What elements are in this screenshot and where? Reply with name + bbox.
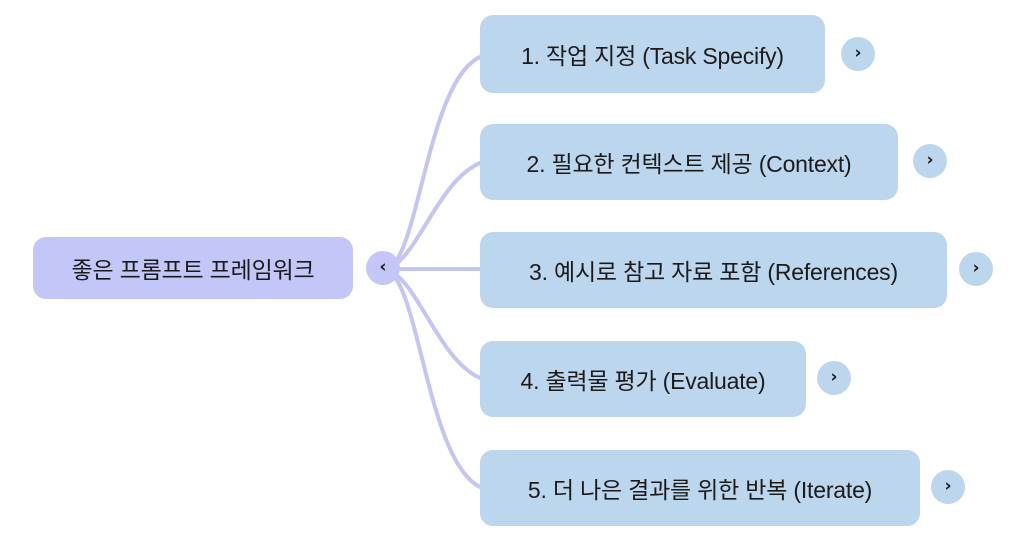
child-node-2-expand-toggle[interactable]: ›: [913, 144, 947, 178]
chevron-right-icon: ›: [972, 260, 979, 277]
child-node-1-expand-toggle[interactable]: ›: [841, 37, 875, 71]
edge-root-to-child-5: [392, 274, 480, 487]
child-node-4-expand-toggle[interactable]: ›: [817, 361, 851, 395]
child-node-3[interactable]: 3. 예시로 참고 자료 포함 (References): [480, 232, 947, 308]
child-node-4-label: 4. 출력물 평가 (Evaluate): [480, 362, 806, 396]
child-node-5[interactable]: 5. 더 나은 결과를 위한 반복 (Iterate): [480, 450, 920, 526]
chevron-right-icon: ›: [926, 152, 933, 169]
root-node-label: 좋은 프롬프트 프레임워크: [33, 251, 353, 285]
connector-edges: [392, 57, 480, 487]
child-node-3-label: 3. 예시로 참고 자료 포함 (References): [480, 253, 947, 287]
child-node-5-expand-toggle[interactable]: ›: [931, 470, 965, 504]
child-node-3-expand-toggle[interactable]: ›: [959, 252, 993, 286]
edge-root-to-child-1: [392, 57, 480, 266]
child-node-2[interactable]: 2. 필요한 컨텍스트 제공 (Context): [480, 124, 898, 200]
mindmap-canvas: 좋은 프롬프트 프레임워크 ‹ 1. 작업 지정 (Task Specify) …: [0, 0, 1024, 542]
chevron-right-icon: ›: [944, 478, 951, 495]
edge-root-to-child-4: [392, 272, 480, 378]
child-node-4[interactable]: 4. 출력물 평가 (Evaluate): [480, 341, 806, 417]
child-node-1[interactable]: 1. 작업 지정 (Task Specify): [480, 15, 825, 93]
chevron-right-icon: ›: [830, 369, 837, 386]
chevron-right-icon: ›: [854, 45, 861, 62]
edge-root-to-child-2: [392, 163, 480, 267]
child-node-2-label: 2. 필요한 컨텍스트 제공 (Context): [480, 145, 898, 179]
child-node-5-label: 5. 더 나은 결과를 위한 반복 (Iterate): [480, 471, 920, 505]
child-node-1-label: 1. 작업 지정 (Task Specify): [480, 37, 825, 71]
root-collapse-toggle[interactable]: ‹: [366, 251, 400, 285]
root-node[interactable]: 좋은 프롬프트 프레임워크: [33, 237, 353, 299]
chevron-left-icon: ‹: [379, 259, 386, 276]
